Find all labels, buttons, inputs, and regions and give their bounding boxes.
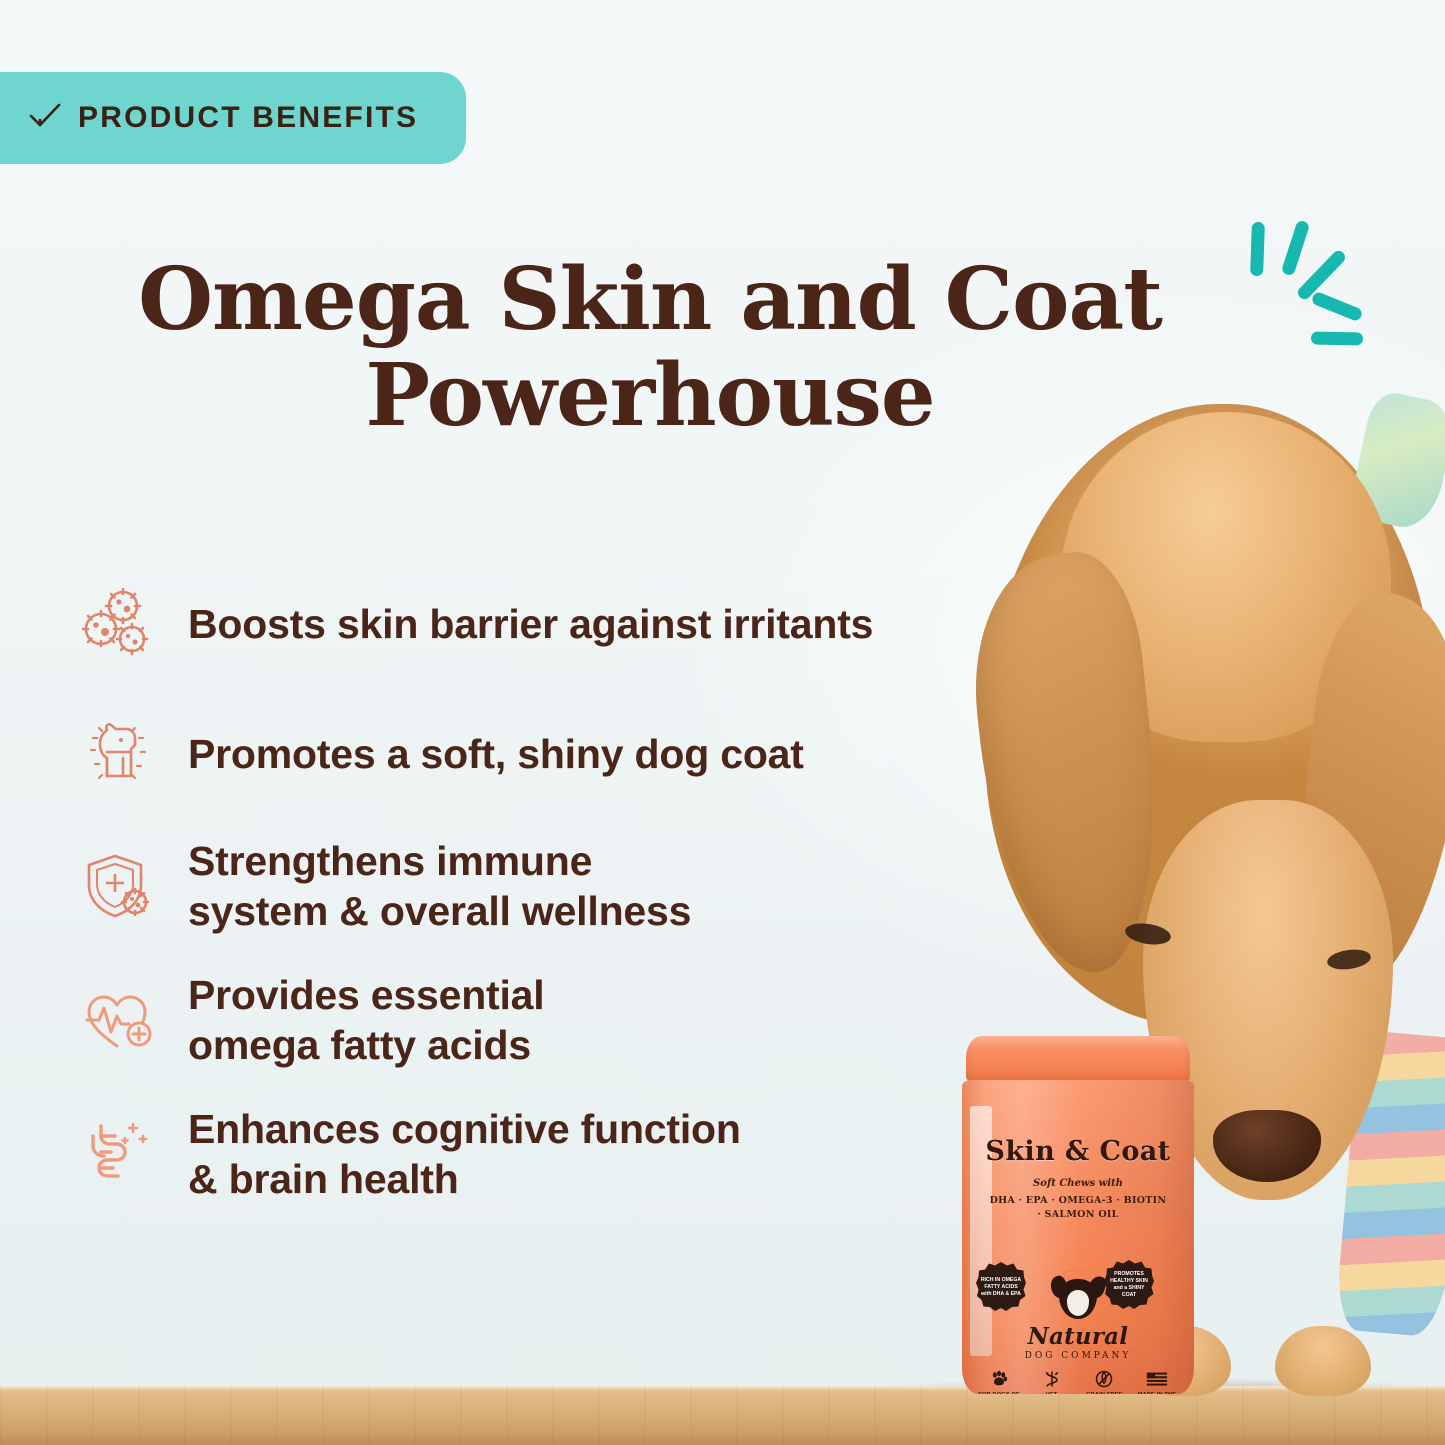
benefit-label: Promotes a soft, shiny dog coat: [188, 729, 804, 779]
benefits-list: Boosts skin barrier against irritants Pr…: [74, 576, 974, 1238]
benefit-item: Boosts skin barrier against irritants: [74, 576, 974, 672]
shiny-dog-icon: [74, 711, 160, 797]
headline-line-1: Omega Skin and Coat: [138, 249, 1162, 350]
benefit-item: Enhances cognitive function & brain heal…: [74, 1104, 974, 1204]
feature-label: VET FORMULATED: [1029, 1392, 1075, 1394]
jar-lid: [966, 1036, 1190, 1084]
dog-paw-right: [1275, 1326, 1371, 1396]
brand-name: Natural: [1028, 1323, 1128, 1350]
feature-grain-free: GRAIN FREE: [1081, 1368, 1127, 1394]
brand-logo: Natural DOG COMPANY: [962, 1270, 1194, 1361]
benefit-item: Provides essential omega fatty acids: [74, 970, 974, 1070]
feature-label: FOR DOGS OF ALL AGES: [976, 1392, 1022, 1394]
heart-pulse-icon: [74, 977, 160, 1063]
feature-for-all-ages: FOR DOGS OF ALL AGES: [976, 1368, 1022, 1394]
product-benefits-badge: PRODUCT BENEFITS: [0, 72, 466, 164]
headline-line-2: Powerhouse: [0, 348, 1300, 444]
grain-free-icon: [1081, 1368, 1127, 1390]
shield-icon: [74, 843, 160, 929]
feature-label: GRAIN FREE: [1081, 1392, 1127, 1394]
check-icon: [28, 102, 62, 135]
page-title: Omega Skin and Coat Powerhouse: [0, 252, 1300, 444]
benefit-item: Promotes a soft, shiny dog coat: [74, 706, 974, 802]
product-label-title: Skin & Coat: [962, 1136, 1194, 1167]
product-benefits-infographic: Skin & Coat Soft Chews with DHA · EPA · …: [0, 0, 1445, 1445]
jar-label: Skin & Coat Soft Chews with DHA · EPA · …: [962, 1080, 1194, 1394]
benefit-label: Enhances cognitive function & brain heal…: [188, 1104, 741, 1204]
product-jar: Skin & Coat Soft Chews with DHA · EPA · …: [962, 1036, 1194, 1394]
caduceus-icon: [1029, 1368, 1075, 1390]
feature-made-in-usa: MADE IN THE USA: [1134, 1368, 1180, 1394]
product-feature-icons: FOR DOGS OF ALL AGES VET FORMULATED: [976, 1368, 1180, 1394]
benefit-item: Strengthens immune system & overall well…: [74, 836, 974, 936]
feature-vet-formulated: VET FORMULATED: [1029, 1368, 1075, 1394]
germs-icon: [74, 581, 160, 667]
usa-flag-icon: [1134, 1368, 1180, 1390]
intestine-icon: [74, 1111, 160, 1197]
badge-label: PRODUCT BENEFITS: [78, 101, 418, 135]
product-label-subtitle: Soft Chews with: [962, 1178, 1194, 1189]
feature-label: MADE IN THE USA: [1134, 1392, 1180, 1394]
brand-tagline: DOG COMPANY: [1025, 1351, 1132, 1361]
paw-icon: [976, 1368, 1022, 1390]
benefit-label: Provides essential omega fatty acids: [188, 970, 544, 1070]
benefit-label: Boosts skin barrier against irritants: [188, 599, 873, 649]
dog-head-logo-icon: [1047, 1270, 1109, 1322]
benefit-label: Strengthens immune system & overall well…: [188, 836, 691, 936]
product-ingredients: DHA · EPA · OMEGA-3 · BIOTIN · SALMON OI…: [988, 1194, 1168, 1222]
